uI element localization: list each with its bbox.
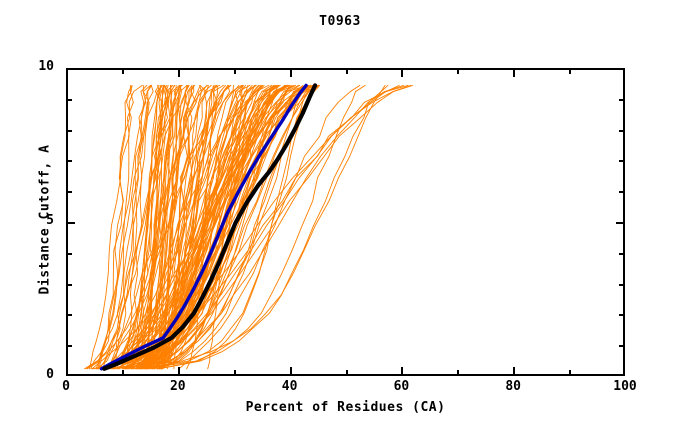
x-tick-bottom-30: [234, 370, 236, 376]
x-axis-title: Percent of Residues (CA): [66, 400, 625, 415]
y-tick-label-0: 0: [24, 367, 54, 382]
y-tick-left-4: [66, 253, 72, 255]
y-tick-left-5: [66, 222, 75, 224]
x-tick-label-100: 100: [595, 379, 655, 394]
y-tick-label-10: 10: [24, 59, 54, 74]
x-tick-bottom-50: [346, 370, 348, 376]
y-tick-right-5: [616, 222, 625, 224]
x-tick-top-10: [122, 68, 124, 74]
x-tick-label-60: 60: [371, 379, 431, 394]
y-tick-right-6: [619, 191, 625, 193]
x-tick-bottom-20: [178, 367, 180, 376]
page-title: T0963: [0, 14, 680, 29]
y-tick-right-8: [619, 130, 625, 132]
x-tick-bottom-90: [569, 370, 571, 376]
x-tick-top-20: [178, 68, 180, 77]
x-tick-top-50: [346, 68, 348, 74]
x-tick-top-40: [290, 68, 292, 77]
y-tick-right-1: [619, 345, 625, 347]
plot-area: [66, 68, 625, 376]
x-tick-top-70: [457, 68, 459, 74]
y-tick-left-3: [66, 284, 72, 286]
y-tick-left-7: [66, 160, 72, 162]
y-tick-right-7: [619, 160, 625, 162]
curves-canvas: [68, 70, 625, 376]
y-tick-left-2: [66, 314, 72, 316]
y-tick-left-6: [66, 191, 72, 193]
x-tick-top-30: [234, 68, 236, 74]
chart-root: T0963 020406080100 0510 Percent of Resid…: [0, 0, 680, 440]
x-tick-label-40: 40: [260, 379, 320, 394]
ensemble-curves: [85, 85, 413, 368]
y-tick-right-4: [619, 253, 625, 255]
y-tick-left-9: [66, 99, 72, 101]
x-tick-bottom-10: [122, 370, 124, 376]
x-tick-bottom-40: [290, 367, 292, 376]
x-tick-top-80: [513, 68, 515, 77]
x-tick-bottom-80: [513, 367, 515, 376]
y-tick-right-2: [619, 314, 625, 316]
x-tick-top-60: [401, 68, 403, 77]
x-tick-bottom-60: [401, 367, 403, 376]
y-tick-left-1: [66, 345, 72, 347]
y-tick-left-8: [66, 130, 72, 132]
y-tick-right-9: [619, 99, 625, 101]
y-axis-title: Distance Cutoff, A: [38, 90, 53, 350]
x-tick-top-90: [569, 68, 571, 74]
x-tick-label-80: 80: [483, 379, 543, 394]
x-tick-bottom-70: [457, 370, 459, 376]
y-tick-right-3: [619, 284, 625, 286]
x-tick-label-20: 20: [148, 379, 208, 394]
